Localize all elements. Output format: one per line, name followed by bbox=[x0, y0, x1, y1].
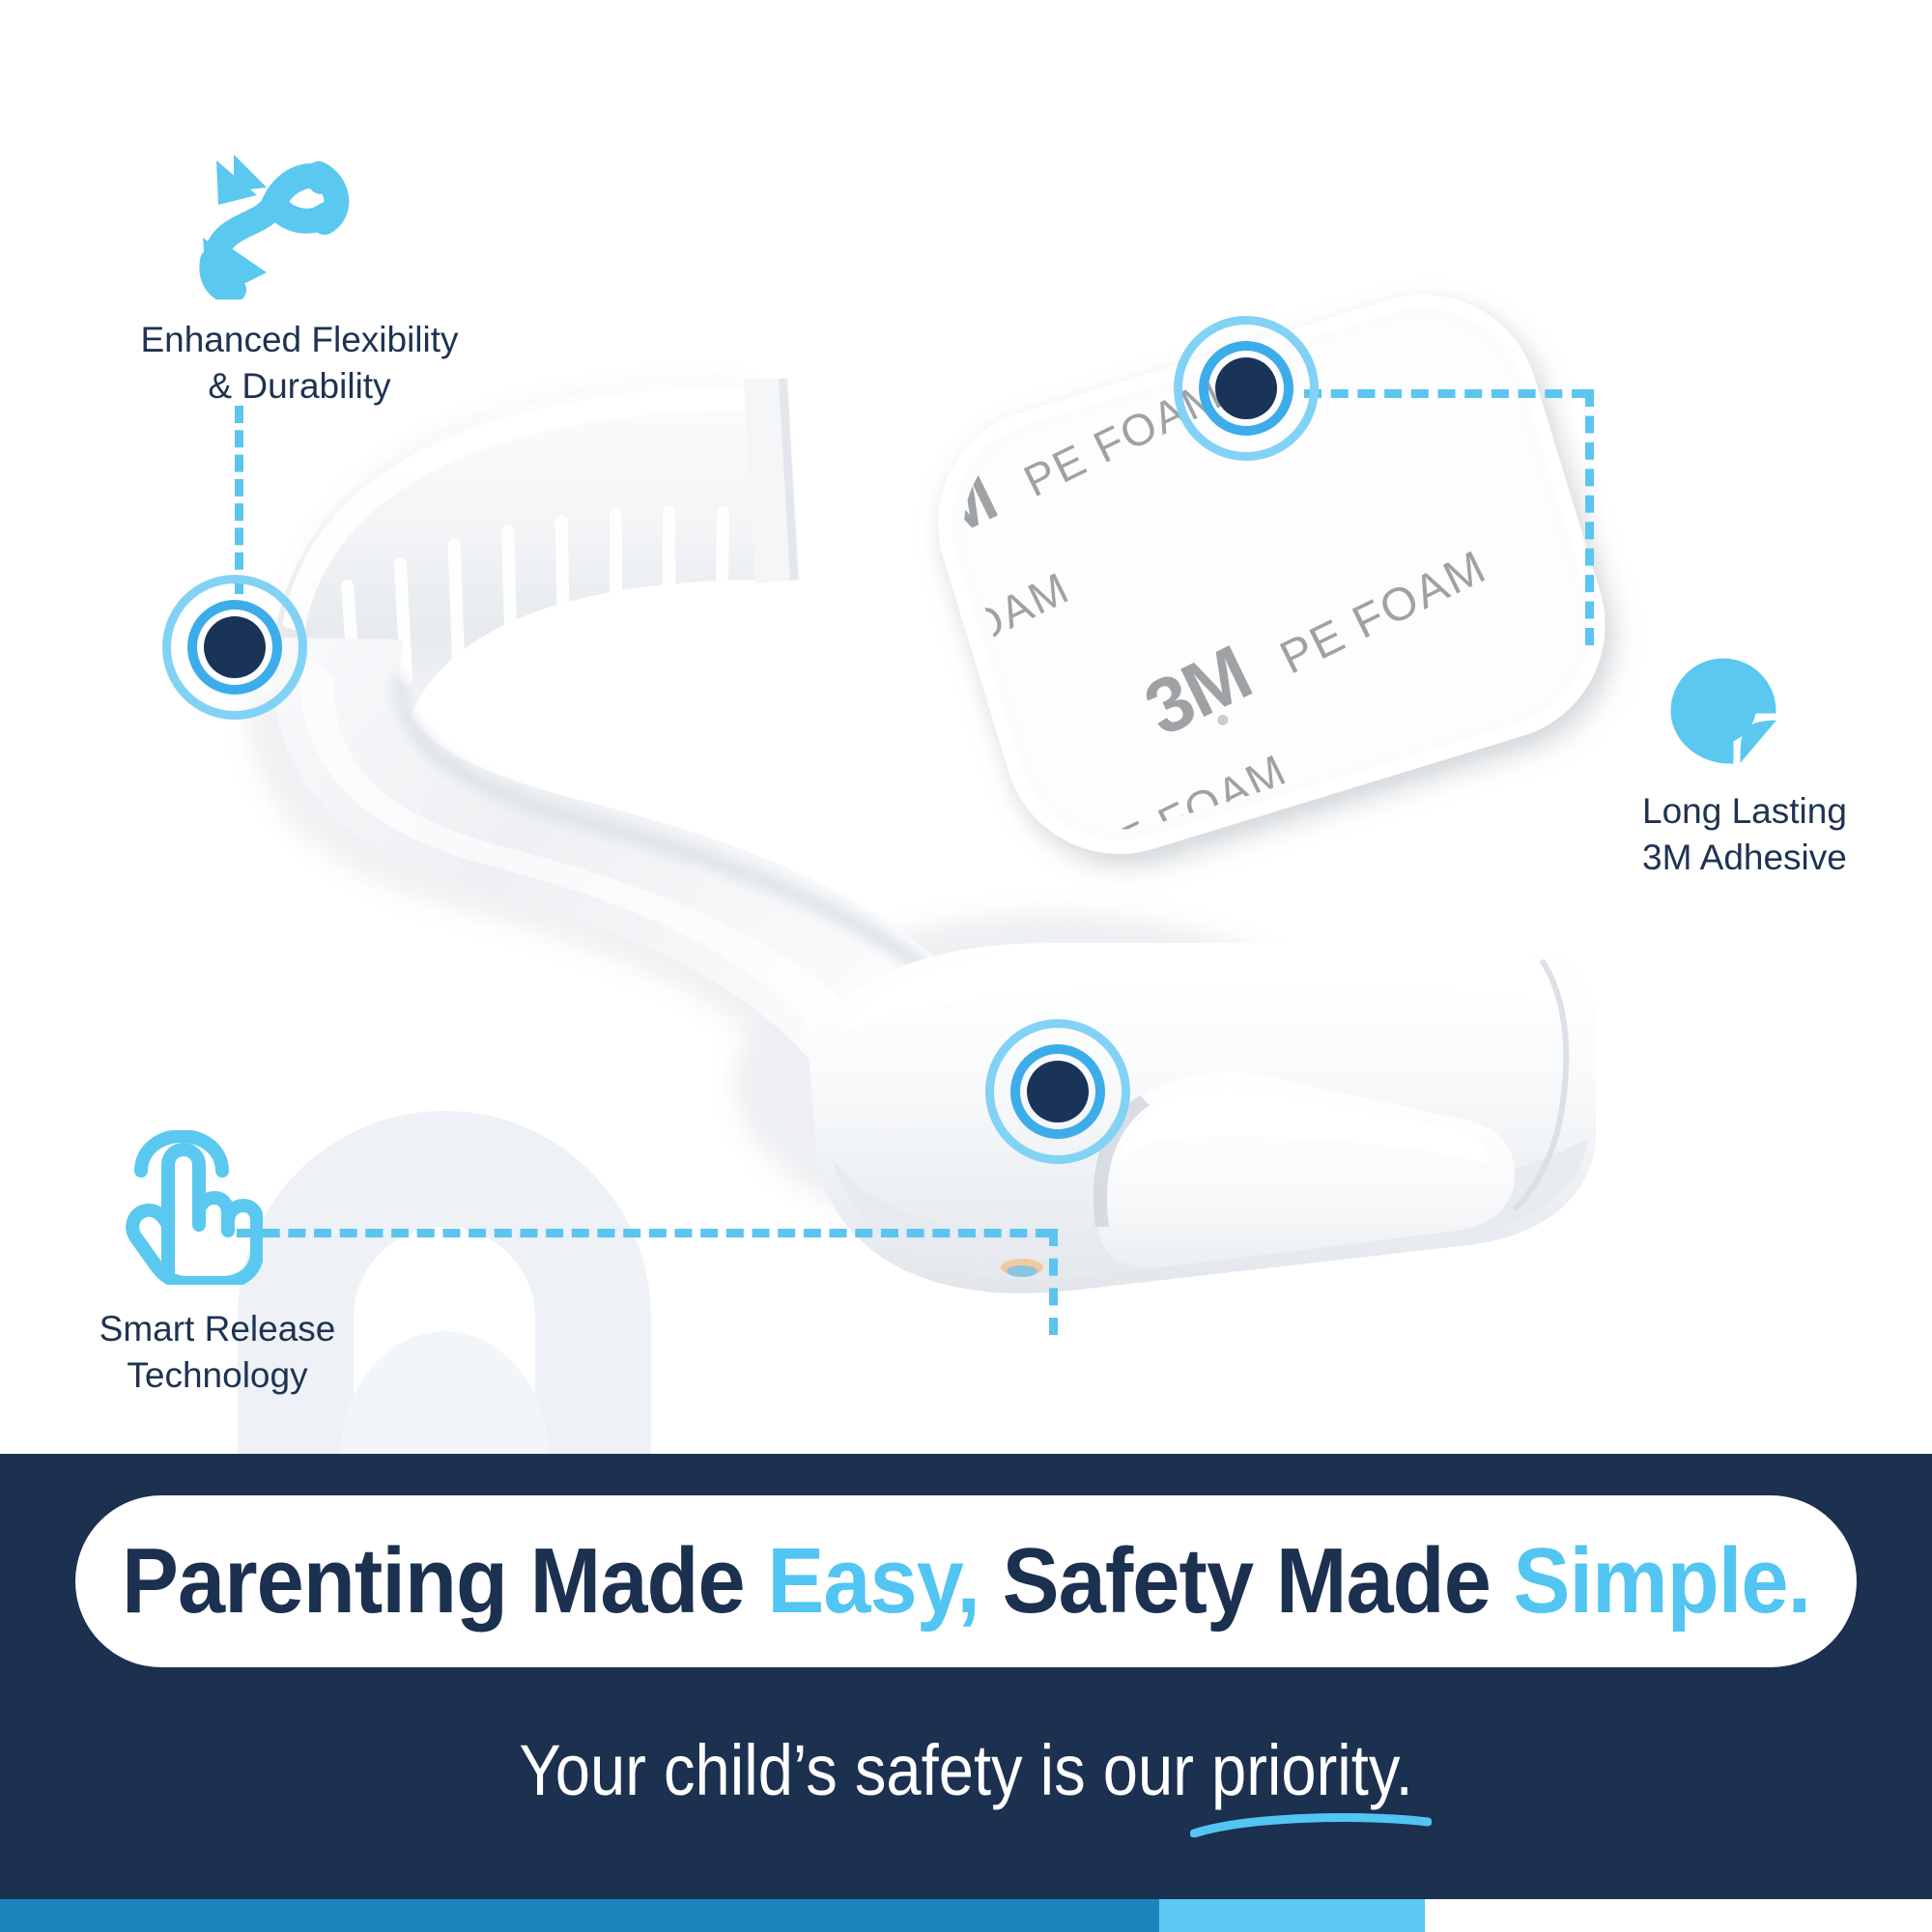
s-curve-double-arrow-icon bbox=[174, 145, 357, 299]
feature-flexibility-label-line2: & Durability bbox=[106, 363, 493, 410]
hotspot-release-button[interactable] bbox=[985, 1019, 1130, 1164]
feature-adhesive-label-line1: Long Lasting bbox=[1642, 788, 1932, 835]
headline-part-4: Simple. bbox=[1513, 1529, 1810, 1633]
bottom-strip-segment-1 bbox=[0, 1899, 1159, 1932]
hotspot-strap-flexibility[interactable] bbox=[162, 575, 307, 720]
feature-adhesive: Long Lasting 3M Adhesive bbox=[1642, 649, 1932, 881]
headline-part-1: Parenting Made bbox=[122, 1529, 767, 1633]
hotspot-core bbox=[204, 616, 266, 678]
feature-flexibility-label-line1: Enhanced Flexibility bbox=[106, 317, 493, 363]
connector-adhesive-horizontal bbox=[1304, 389, 1589, 398]
subline-underline bbox=[1190, 1810, 1432, 1837]
hotspot-core bbox=[1027, 1061, 1089, 1122]
peel-sticker-icon bbox=[1662, 649, 1785, 773]
feature-adhesive-label-line2: 3M Adhesive bbox=[1642, 835, 1932, 881]
banner-subline: Your child’s safety is our priority. bbox=[116, 1729, 1816, 1811]
pad-text-row-3: 3M PE FOAM bbox=[1131, 514, 1498, 753]
hotspot-adhesive-pad[interactable] bbox=[1174, 316, 1319, 461]
banner-subline-text: Your child’s safety is our priority. bbox=[519, 1730, 1412, 1810]
hotspot-core bbox=[1215, 357, 1277, 419]
connector-flexibility bbox=[235, 406, 243, 594]
headline-part-2: Easy, bbox=[767, 1529, 980, 1633]
headline-card: Parenting Made Easy, Safety Made Simple. bbox=[75, 1495, 1857, 1667]
bottom-strip-segment-2 bbox=[1159, 1899, 1425, 1932]
connector-release-vertical bbox=[1049, 1229, 1058, 1335]
connector-adhesive-vertical bbox=[1585, 389, 1594, 645]
banner-watermark bbox=[145, 1082, 744, 1797]
feature-flexibility: Enhanced Flexibility & Durability bbox=[106, 145, 493, 410]
page-headline: Parenting Made Easy, Safety Made Simple. bbox=[122, 1528, 1810, 1634]
bottom-strip-segment-3 bbox=[1425, 1899, 1932, 1932]
infographic-canvas: 3M PE FOAM 3M PE FOAM 3M PE FOAM 3M PE F… bbox=[0, 0, 1932, 1932]
headline-part-3: Safety Made bbox=[980, 1529, 1514, 1633]
